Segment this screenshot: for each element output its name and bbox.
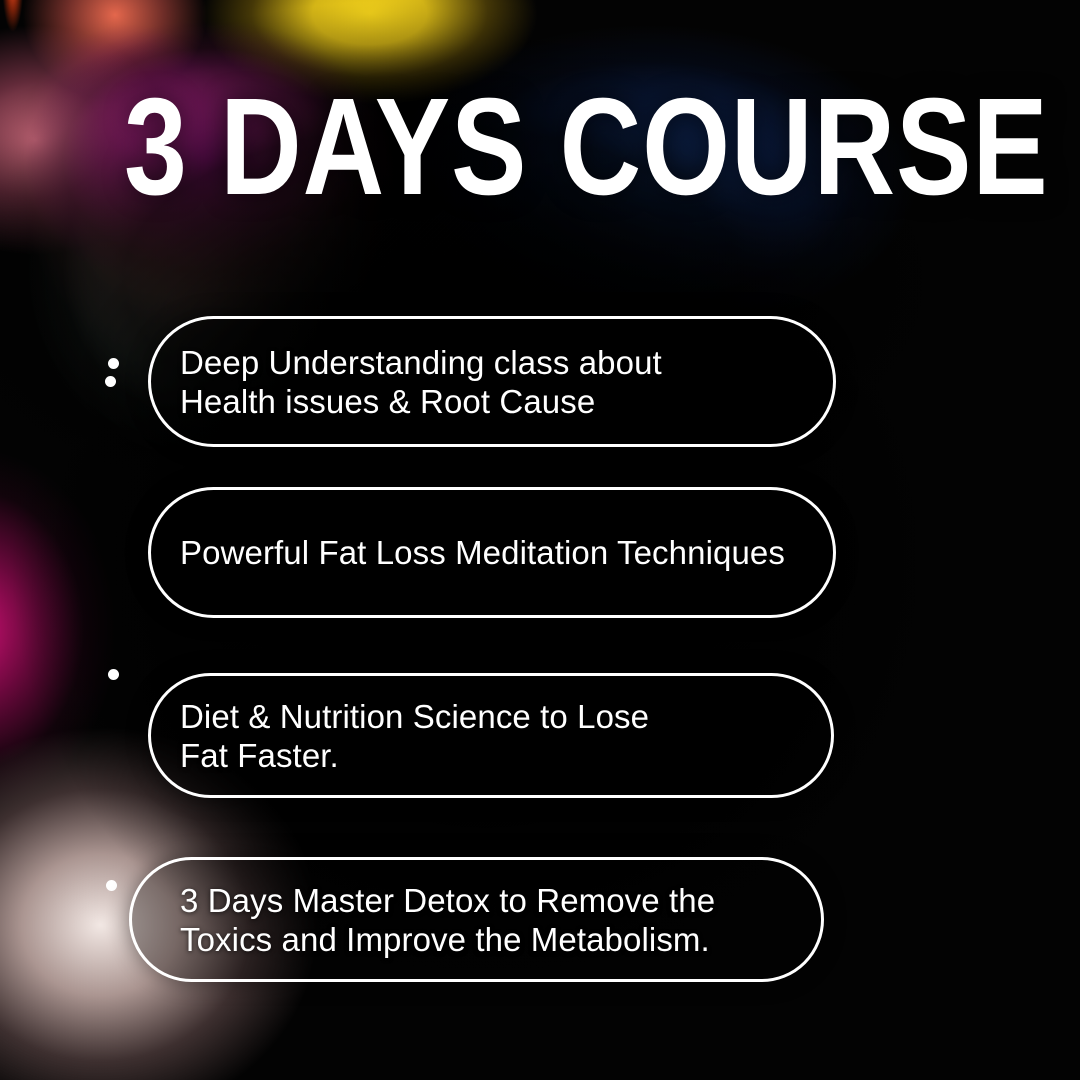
- feature-pill: Powerful Fat Loss Meditation Techniques: [148, 487, 836, 618]
- page-title: 3 DAYS COURSE: [124, 78, 1049, 216]
- bullet-dot-icon: [108, 669, 119, 680]
- feature-pill-label: Diet & Nutrition Science to Lose Fat Fas…: [180, 697, 649, 775]
- bullet-dot-icon: [106, 880, 117, 891]
- bullet-dot-icon: [105, 376, 116, 387]
- bullet-dot-icon: [108, 358, 119, 369]
- feature-pill-label: Powerful Fat Loss Meditation Techniques: [180, 533, 785, 572]
- promo-graphic-canvas: 3 DAYS COURSE Deep Understanding class a…: [0, 0, 1080, 1080]
- content-area: 3 DAYS COURSE Deep Understanding class a…: [0, 0, 1080, 1080]
- feature-pill: Deep Understanding class about Health is…: [148, 316, 836, 447]
- feature-pill: Diet & Nutrition Science to Lose Fat Fas…: [148, 673, 834, 798]
- feature-pill: 3 Days Master Detox to Remove the Toxics…: [129, 857, 824, 982]
- feature-pill-label: Deep Understanding class about Health is…: [180, 343, 662, 421]
- feature-pill-label: 3 Days Master Detox to Remove the Toxics…: [180, 881, 715, 959]
